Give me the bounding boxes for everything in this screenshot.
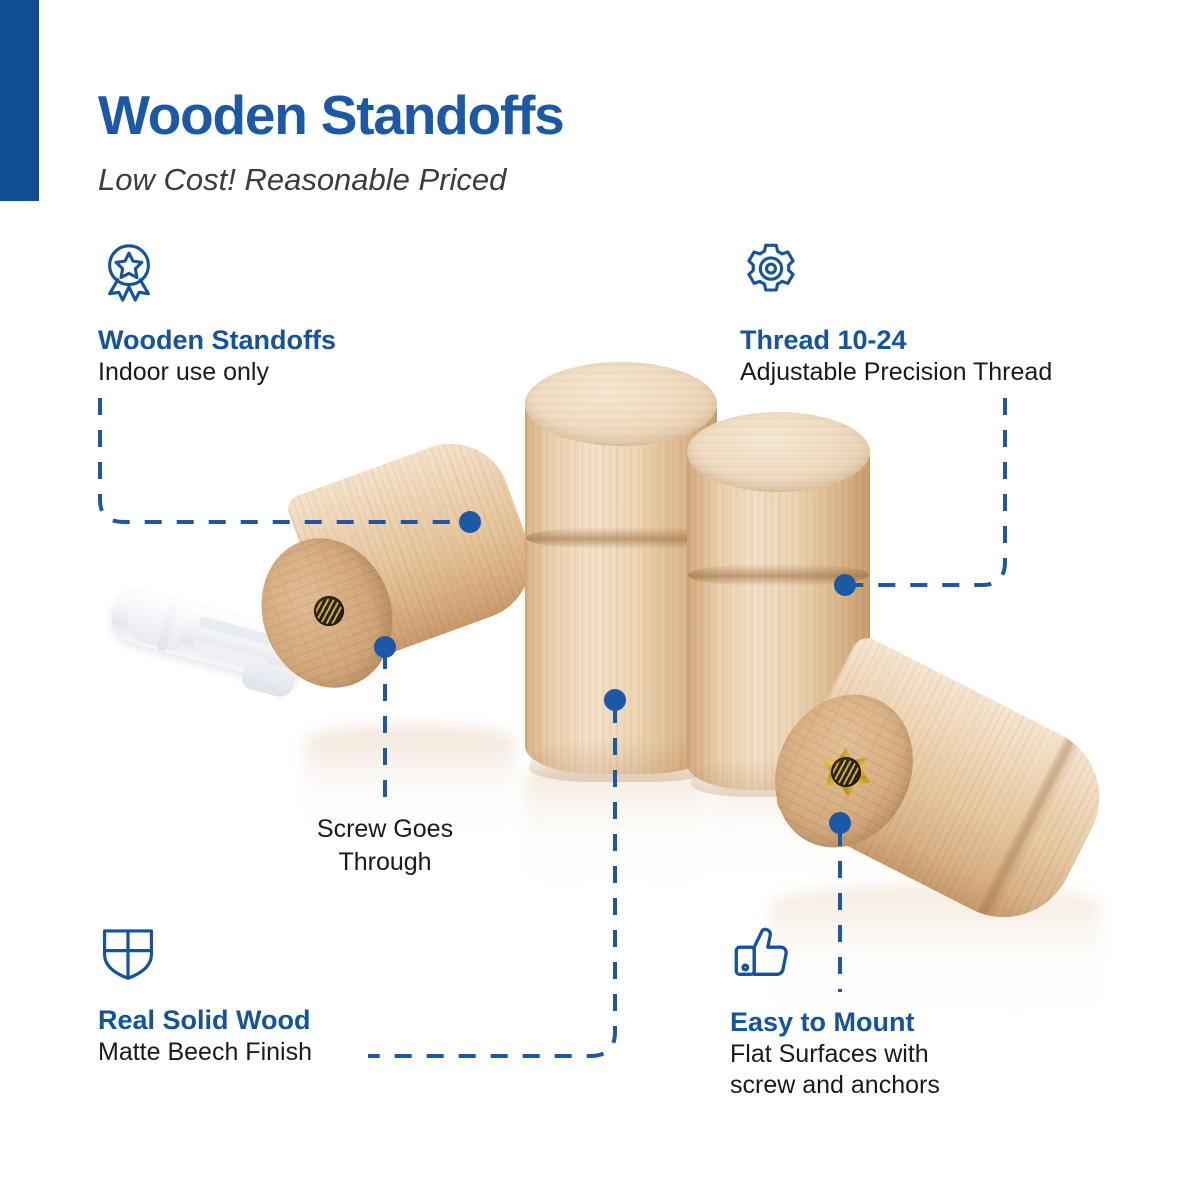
callout-screw-goes-through: Screw Goes Through bbox=[270, 813, 500, 878]
page-subtitle: Low Cost! Reasonable Priced bbox=[98, 163, 506, 197]
feature-title-thread: Thread 10-24 bbox=[740, 324, 1052, 357]
feature-desc-thread: Adjustable Precision Thread bbox=[740, 357, 1052, 388]
gear-icon bbox=[740, 240, 802, 302]
feature-real-solid-wood: Real Solid Wood Matte Beech Finish bbox=[98, 922, 312, 1068]
feature-easy-to-mount: Easy to Mount Flat Surfaces with screw a… bbox=[730, 922, 940, 1101]
feature-wooden-standoffs: Wooden Standoffs Indoor use only bbox=[98, 240, 336, 388]
feature-desc-easy-to-mount-line1: Flat Surfaces with bbox=[730, 1039, 940, 1070]
award-ribbon-icon bbox=[98, 240, 160, 302]
feature-thread: Thread 10-24 Adjustable Precision Thread bbox=[740, 240, 1052, 388]
brass-insert-front-right bbox=[822, 748, 870, 796]
callout-screw-goes-through-line1: Screw Goes bbox=[270, 813, 500, 846]
callout-screw-goes-through-line2: Through bbox=[270, 846, 500, 879]
brass-insert-left bbox=[305, 587, 353, 635]
page-title: Wooden Standoffs bbox=[98, 87, 564, 145]
feature-desc-wooden-standoffs: Indoor use only bbox=[98, 357, 336, 388]
feature-title-easy-to-mount: Easy to Mount bbox=[730, 1006, 940, 1039]
shield-icon bbox=[98, 922, 158, 982]
header-accent-bar bbox=[0, 0, 39, 201]
feature-title-real-solid-wood: Real Solid Wood bbox=[98, 1004, 312, 1037]
feature-title-wooden-standoffs: Wooden Standoffs bbox=[98, 324, 336, 357]
feature-desc-easy-to-mount-line2: screw and anchors bbox=[730, 1070, 940, 1101]
feature-desc-real-solid-wood: Matte Beech Finish bbox=[98, 1037, 312, 1068]
standoff-front-right bbox=[770, 600, 1120, 900]
infographic-page: Wooden Standoffs Low Cost! Reasonable Pr… bbox=[0, 0, 1200, 1200]
standoff-left bbox=[255, 495, 525, 710]
thumbs-up-icon bbox=[730, 922, 792, 984]
